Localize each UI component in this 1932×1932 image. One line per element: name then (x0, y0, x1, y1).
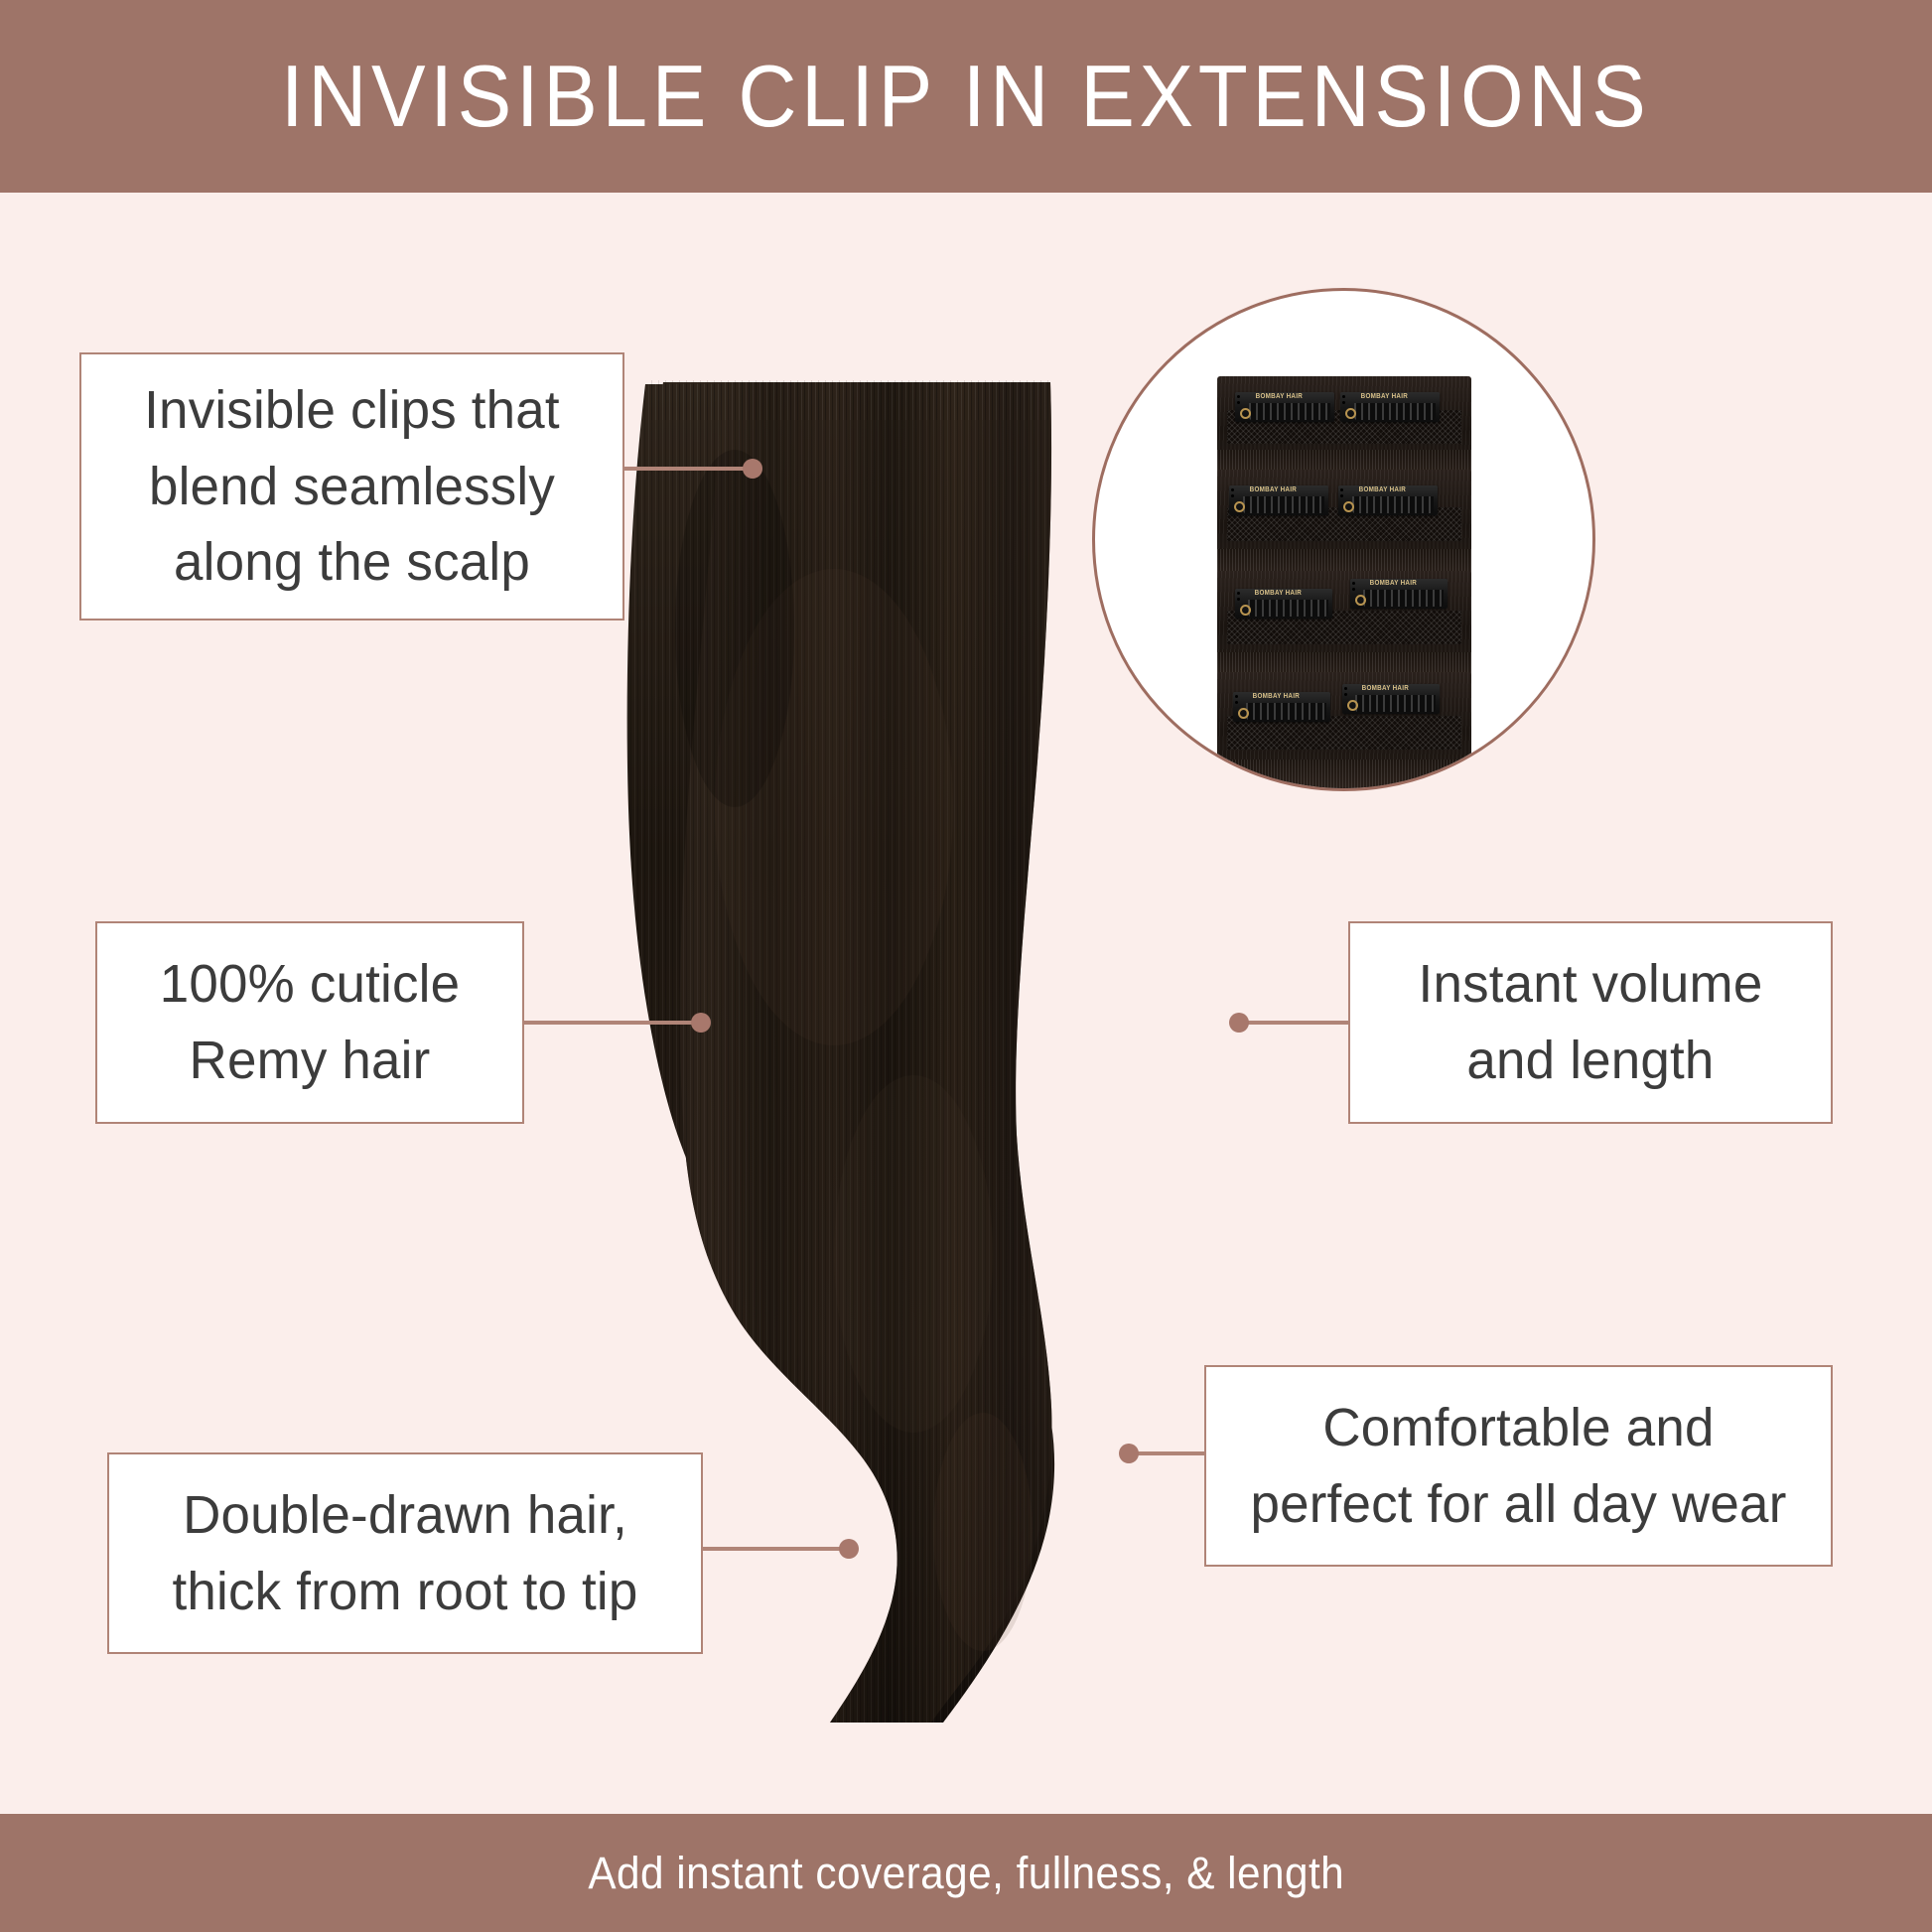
page-title: INVISIBLE CLIP IN EXTENSIONS (281, 46, 1650, 147)
infographic-canvas: INVISIBLE CLIP IN EXTENSIONS (0, 0, 1932, 1932)
connector-dot-instant-volume (1229, 1013, 1249, 1033)
clip-brand-label: BOMBAY HAIR (1255, 590, 1302, 597)
hair-clip: BOMBAY HAIR (1338, 485, 1438, 515)
clip-brand-label: BOMBAY HAIR (1358, 486, 1405, 493)
connector-line-remy-hair (524, 1021, 701, 1025)
hair-clip: BOMBAY HAIR (1340, 392, 1440, 422)
header-bar: INVISIBLE CLIP IN EXTENSIONS (0, 0, 1932, 193)
hair-clip: BOMBAY HAIR (1350, 579, 1448, 609)
hair-clip: BOMBAY HAIR (1235, 392, 1334, 422)
callout-remy-hair[interactable]: 100% cuticle Remy hair (95, 921, 524, 1124)
connector-line-invisible-clips (624, 467, 754, 471)
clip-brand-label: BOMBAY HAIR (1370, 580, 1417, 587)
callout-invisible-clips[interactable]: Invisible clips that blend seamlessly al… (79, 352, 624, 621)
hair-clip: BOMBAY HAIR (1342, 684, 1440, 714)
connector-dot-invisible-clips (743, 459, 762, 479)
callout-comfortable[interactable]: Comfortable and perfect for all day wear (1204, 1365, 1833, 1567)
clip-brand-label: BOMBAY HAIR (1249, 486, 1296, 493)
clip-brand-label: BOMBAY HAIR (1362, 685, 1409, 692)
hair-clip: BOMBAY HAIR (1235, 589, 1332, 619)
footer-bar: Add instant coverage, fullness, & length (0, 1814, 1932, 1932)
hair-clip: BOMBAY HAIR (1233, 692, 1330, 722)
clip-brand-label: BOMBAY HAIR (1360, 393, 1407, 400)
clip-brand-label: BOMBAY HAIR (1255, 393, 1302, 400)
footer-tagline: Add instant coverage, fullness, & length (588, 1848, 1344, 1899)
callout-instant-volume[interactable]: Instant volume and length (1348, 921, 1833, 1124)
callout-text: Instant volume and length (1355, 946, 1826, 1098)
callout-double-drawn[interactable]: Double-drawn hair, thick from root to ti… (107, 1452, 703, 1654)
callout-text: Double-drawn hair, thick from root to ti… (115, 1477, 695, 1629)
clip-set-inset: BOMBAY HAIR BOMBAY HAIR BOMBAY HAIR (1092, 288, 1595, 791)
callout-text: Invisible clips that blend seamlessly al… (86, 372, 617, 601)
callout-text: 100% cuticle Remy hair (101, 946, 517, 1098)
connector-dot-comfortable (1119, 1444, 1139, 1463)
connector-line-comfortable (1129, 1451, 1206, 1455)
clip-brand-label: BOMBAY HAIR (1253, 693, 1300, 700)
hair-clip: BOMBAY HAIR (1229, 485, 1328, 515)
callout-text: Comfortable and perfect for all day wear (1212, 1390, 1824, 1542)
weft-stack: BOMBAY HAIR BOMBAY HAIR BOMBAY HAIR (1217, 376, 1471, 791)
connector-dot-remy-hair (691, 1013, 711, 1033)
connector-line-instant-volume (1239, 1021, 1350, 1025)
connector-dot-double-drawn (839, 1539, 859, 1559)
connector-line-double-drawn (703, 1547, 850, 1551)
